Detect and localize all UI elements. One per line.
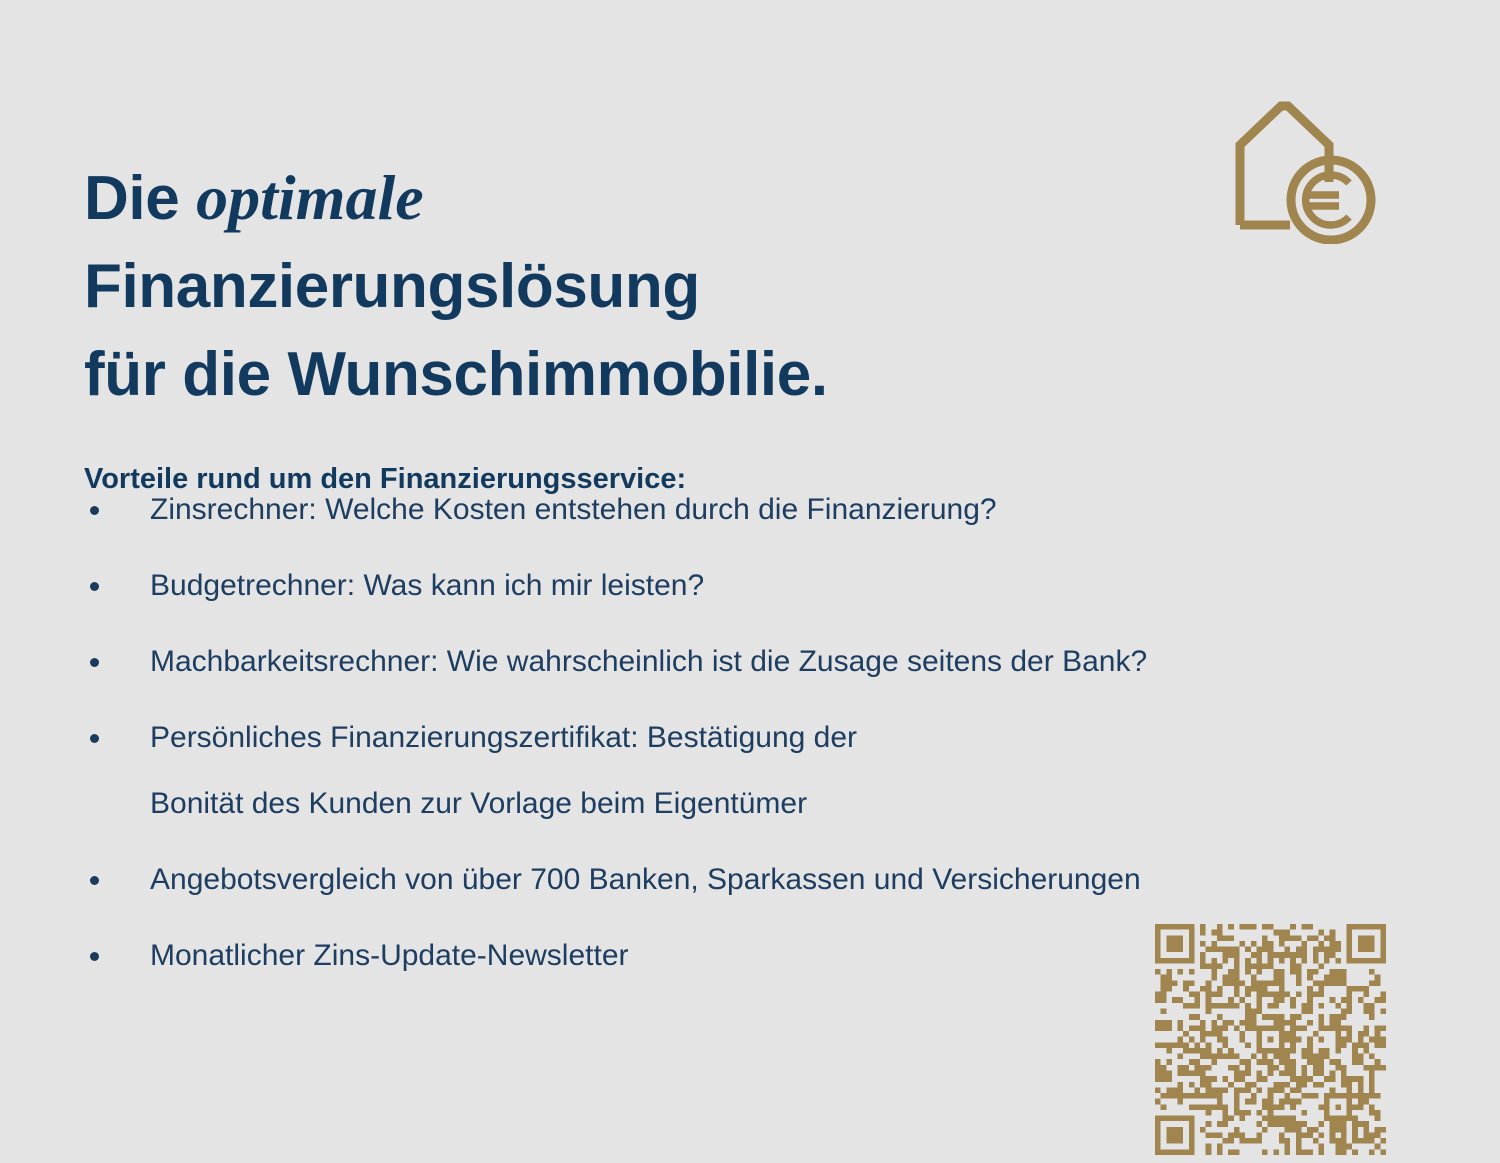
- house-euro-icon: [1228, 96, 1384, 244]
- list-item: Angebotsvergleich von über 700 Banken, S…: [84, 858, 1424, 902]
- bullet-dot-icon: [90, 658, 99, 667]
- list-item: Budgetrechner: Was kann ich mir leisten?: [84, 564, 1424, 608]
- bullet-dot-icon: [90, 734, 99, 743]
- headline-line-2: Finanzierungslösung: [84, 243, 1084, 331]
- headline-emphasis-optimale: optimale: [196, 162, 424, 233]
- qr-code-canvas: [1155, 924, 1386, 1155]
- bullet-dot-icon: [90, 582, 99, 591]
- headline-line-1: Die optimale: [84, 154, 1084, 243]
- headline-line-1-prefix: Die: [84, 164, 196, 233]
- list-item: Zinsrechner: Welche Kosten entstehen dur…: [84, 488, 1424, 532]
- list-item-label: Zinsrechner: Welche Kosten entstehen dur…: [150, 488, 1424, 532]
- list-item-label-continued: Bonität des Kunden zur Vorlage beim Eige…: [150, 782, 1424, 826]
- list-item-label: Machbarkeitsrechner: Wie wahrscheinlich …: [150, 640, 1424, 684]
- slide-canvas: Die optimale Finanzierungslösung für die…: [0, 0, 1500, 1163]
- list-item: Persönliches Finanzierungszertifikat: Be…: [84, 716, 1424, 826]
- bullet-dot-icon: [90, 506, 99, 515]
- list-item-label: Budgetrechner: Was kann ich mir leisten?: [150, 564, 1424, 608]
- headline-line-3: für die Wunschimmobilie.: [84, 331, 1084, 419]
- list-item-label: Persönliches Finanzierungszertifikat: Be…: [150, 716, 1424, 760]
- qr-code[interactable]: [1155, 924, 1386, 1155]
- list-item: Machbarkeitsrechner: Wie wahrscheinlich …: [84, 640, 1424, 684]
- page-title: Die optimale Finanzierungslösung für die…: [84, 154, 1084, 419]
- bullet-dot-icon: [90, 876, 99, 885]
- list-item-label: Angebotsvergleich von über 700 Banken, S…: [150, 858, 1424, 902]
- bullet-dot-icon: [90, 952, 99, 961]
